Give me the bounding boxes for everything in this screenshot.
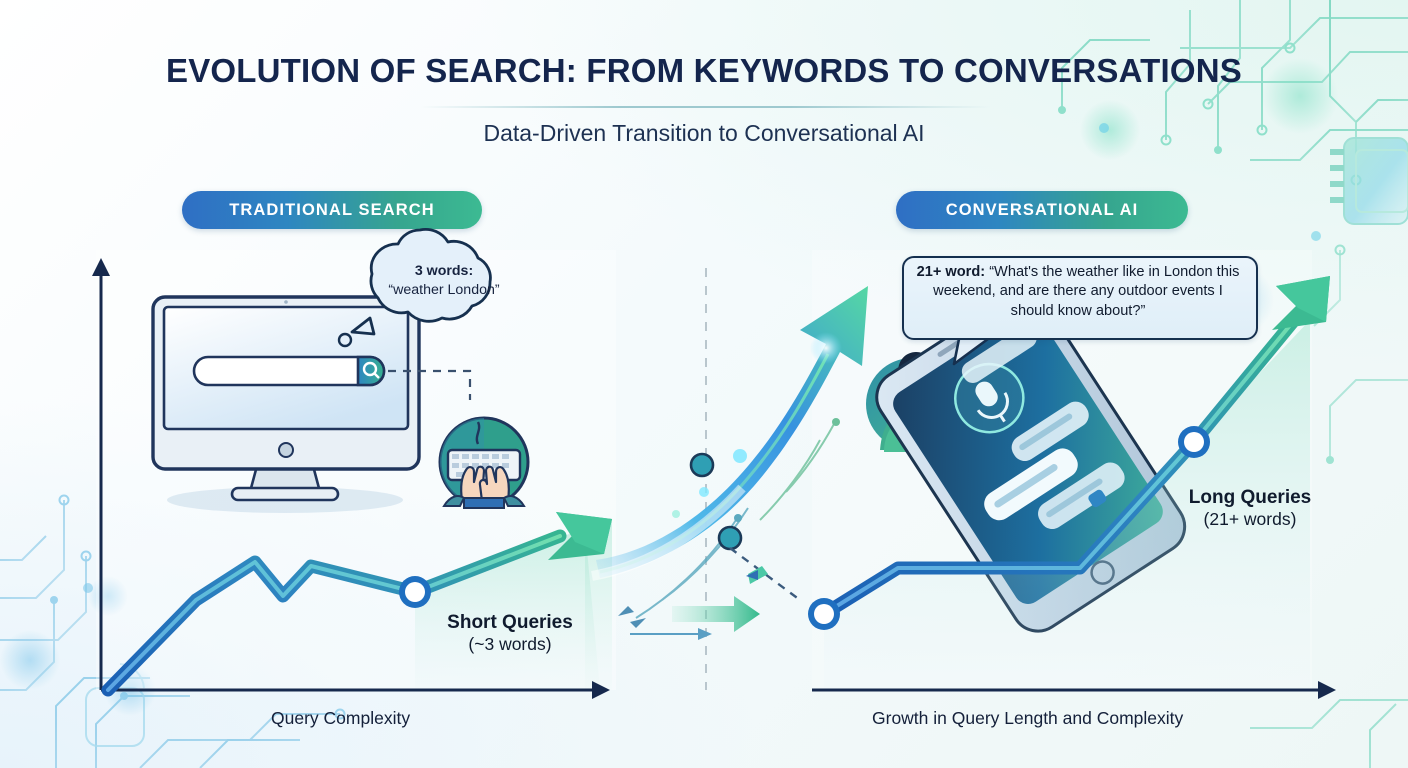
right-chart-marker-start [808, 598, 840, 630]
label-short-queries-subtitle: (~3 words) [400, 634, 620, 655]
left-chart-axis-label: Query Complexity [271, 708, 410, 729]
label-long-queries: Long Queries (21+ words) [1140, 487, 1360, 531]
infographic-canvas: EVOLUTION OF SEARCH: FROM KEYWORDS TO CO… [0, 0, 1408, 768]
right-bubble-lead: 21+ word: [917, 264, 986, 280]
label-short-queries-title: Short Queries [400, 612, 620, 634]
left-bubble-text: 3 words: “weather London” [355, 262, 533, 299]
left-bubble-body: “weather London” [388, 282, 499, 298]
motion-arrowheads [618, 418, 840, 628]
right-chart-axis-label: Growth in Query Length and Complexity [872, 708, 1183, 729]
green-right-arrow-icon [672, 596, 760, 632]
right-bubble-text: 21+ word: “What's the weather like in Lo… [910, 263, 1246, 321]
label-long-queries-title: Long Queries [1140, 487, 1360, 509]
left-chart-marker [399, 576, 431, 608]
label-long-queries-subtitle: (21+ words) [1140, 509, 1360, 530]
right-chart-marker-end [1178, 426, 1210, 458]
illustration-layer [0, 0, 1408, 768]
left-bubble-lead: 3 words: [415, 263, 473, 279]
hands-typing-keyboard-icon [440, 418, 528, 508]
label-short-queries: Short Queries (~3 words) [400, 612, 620, 656]
